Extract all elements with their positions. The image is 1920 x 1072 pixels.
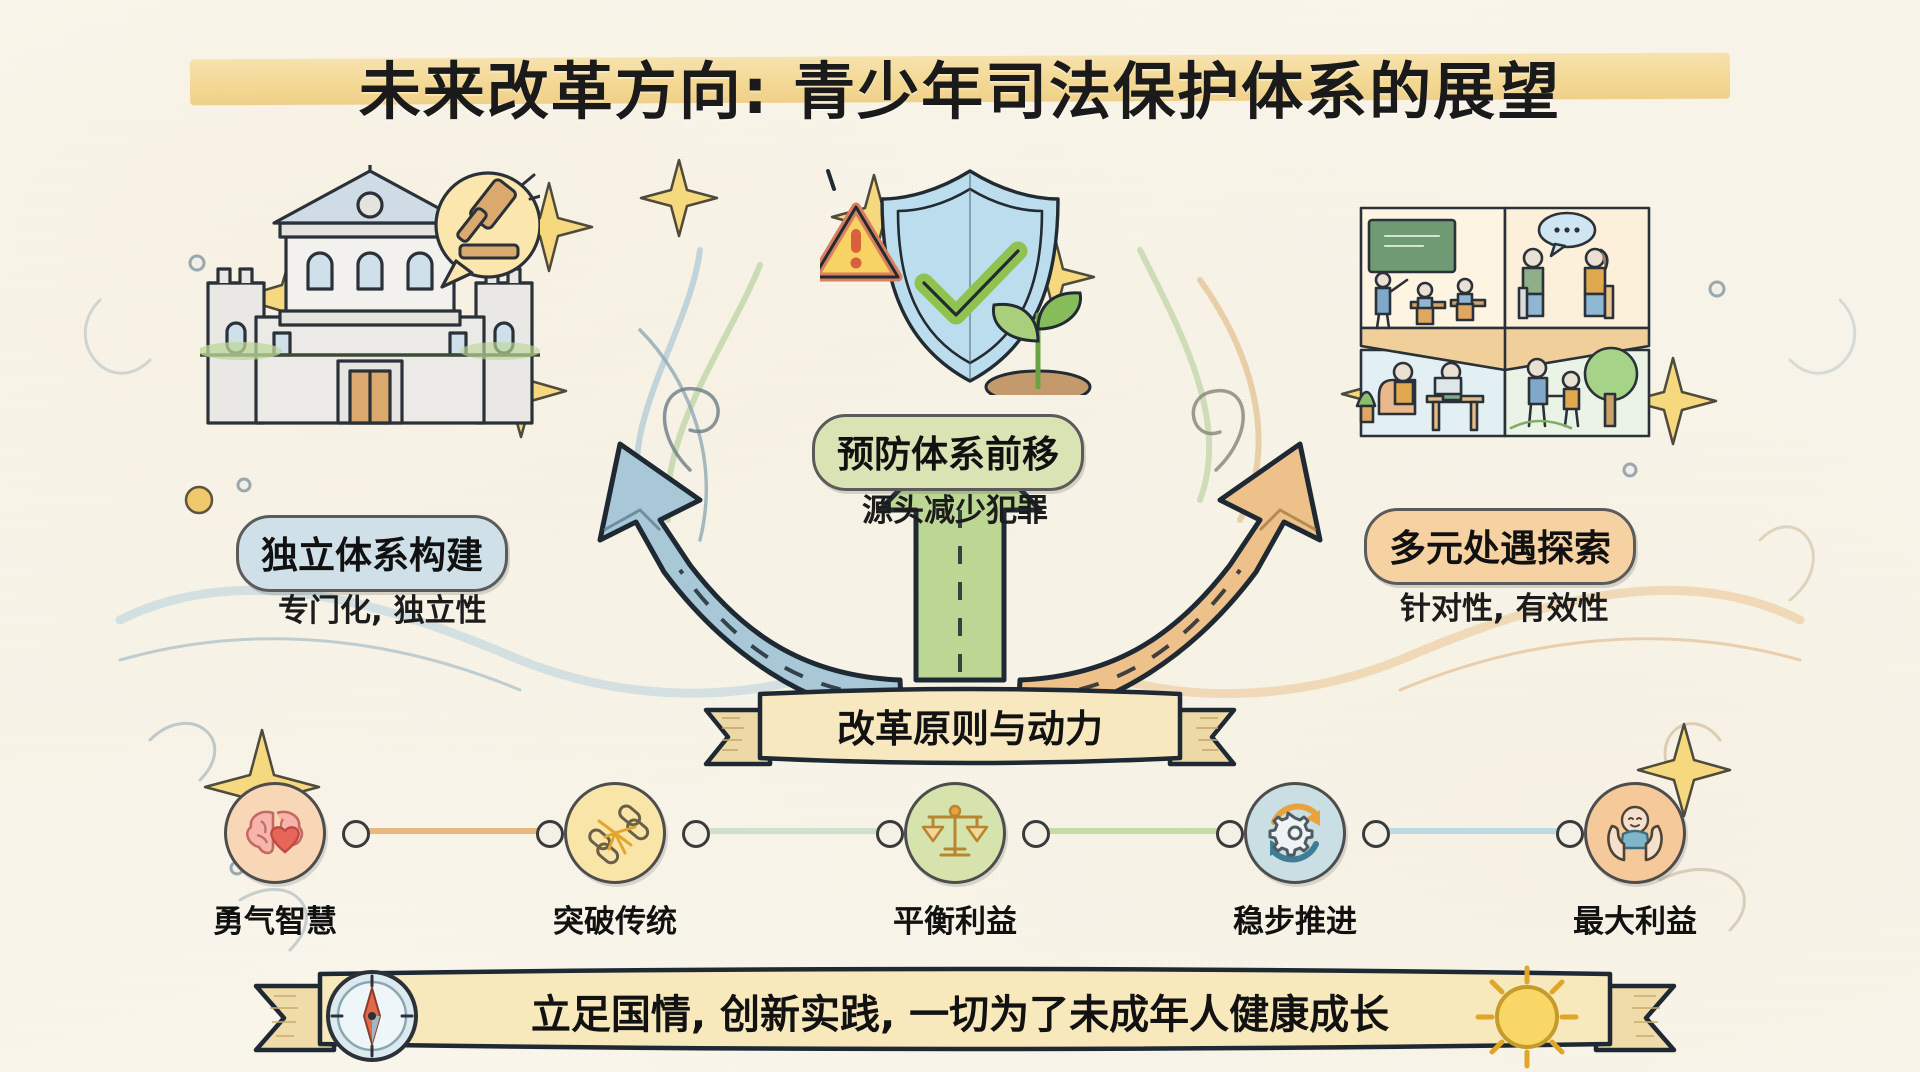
sun-icon: [1472, 962, 1582, 1072]
branch-sublabel-independent-system: 专门化, 独立性: [278, 585, 487, 630]
compass-icon: [318, 962, 426, 1070]
branch-sublabel-diverse-treatment: 针对性, 有效性: [1400, 583, 1609, 628]
branch-label-independent-system[interactable]: 独立体系构建: [236, 515, 508, 592]
breaking-chain-icon: [579, 797, 651, 869]
connector-4: [1370, 828, 1570, 834]
principle-circle-2: [564, 782, 666, 884]
principle-circle-5: [1584, 782, 1686, 884]
brain-heart-icon: [239, 797, 311, 869]
gear-cycle-icon: [1258, 796, 1332, 870]
connector-3: [1030, 828, 1230, 834]
branch-sublabel-prevention-system: 源头减少犯罪: [862, 485, 1048, 530]
principle-label-3: 平衡利益: [880, 896, 1030, 941]
principle-node-best-interests[interactable]: 最大利益: [1560, 782, 1710, 941]
scales-icon: [919, 797, 991, 869]
principle-circle-1: [224, 782, 326, 884]
principle-node-balance-interests[interactable]: 平衡利益: [880, 782, 1030, 941]
principle-node-steady-progress[interactable]: 稳步推进: [1220, 782, 1370, 941]
illustration-shield-prevention: [820, 155, 1120, 395]
principle-label-4: 稳步推进: [1220, 896, 1370, 941]
branch-label-diverse-treatment[interactable]: 多元处遇探索: [1364, 508, 1636, 585]
bottom-banner-label: 立足国情, 创新实践, 一切为了未成年人健康成长: [430, 978, 1490, 1044]
principle-circle-3: [904, 782, 1006, 884]
connector-1: [350, 828, 550, 834]
poster-canvas: 未来改革方向: 青少年司法保护体系的展望: [0, 0, 1920, 1072]
principle-label-5: 最大利益: [1560, 896, 1710, 941]
mid-banner-label: 改革原则与动力: [700, 694, 1240, 756]
principle-label-1: 勇气智慧: [200, 896, 350, 941]
principle-node-courage-wisdom[interactable]: 勇气智慧: [200, 782, 350, 941]
principles-row: 勇气智慧 突破传统: [200, 782, 1720, 952]
child-in-hands-icon: [1598, 796, 1672, 870]
principle-circle-4: [1244, 782, 1346, 884]
branch-label-prevention-system[interactable]: 预防体系前移: [812, 414, 1084, 491]
principle-node-break-tradition[interactable]: 突破传统: [540, 782, 690, 941]
connector-2: [690, 828, 890, 834]
principle-label-2: 突破传统: [540, 896, 690, 941]
